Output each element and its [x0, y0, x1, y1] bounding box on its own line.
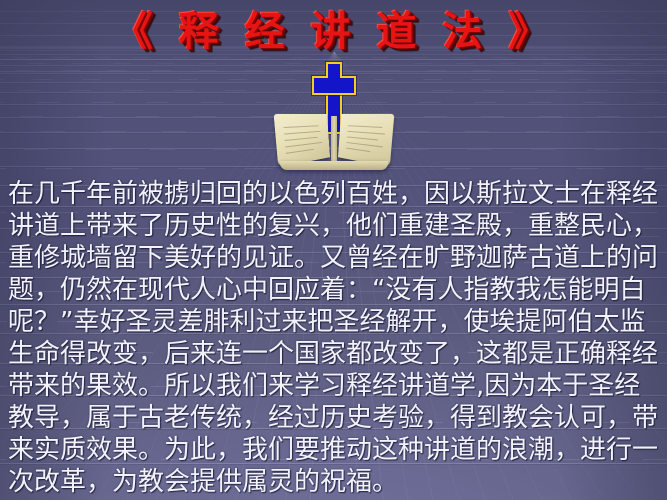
body-text-line: 教导，属于古老传统，经过历史考验，得到教会认可，带 [8, 402, 661, 434]
body-text-line: 次改革，为教会提供属灵的祝福。 [8, 466, 661, 498]
presentation-slide: 《 释 经 讲 道 法 》 在几千 [0, 0, 667, 500]
body-text-line: 讲道上带来了历史性的复兴，他们重建圣殿，重整民心， [8, 210, 661, 242]
body-text-line: 呢？”幸好圣灵差腓利过来把圣经解开，使埃提阿伯太监 [8, 306, 661, 338]
body-text-line: 题，仍然在现代人心中回应着：“没有人指教我怎能明白 [8, 274, 661, 306]
body-text-line: 带来的果效。所以我们来学习释经讲道学,因为本于圣经 [8, 370, 661, 402]
slide-title: 《 释 经 讲 道 法 》 [0, 6, 667, 58]
body-text-line: 来实质效果。为此，我们要推动这种讲道的浪潮，进行一 [8, 434, 661, 466]
slide-body-text: 在几千年前被掳归回的以色列百姓，因以斯拉文士在释经讲道上带来了历史性的复兴，他们… [8, 178, 661, 498]
body-text-line: 重修城墙留下美好的见证。又曾经在旷野迦萨古道上的问 [8, 242, 661, 274]
body-text-line: 生命得改变，后来连一个国家都改变了，这都是正确释经 [8, 338, 661, 370]
body-text-line: 在几千年前被掳归回的以色列百姓，因以斯拉文士在释经 [8, 178, 661, 210]
